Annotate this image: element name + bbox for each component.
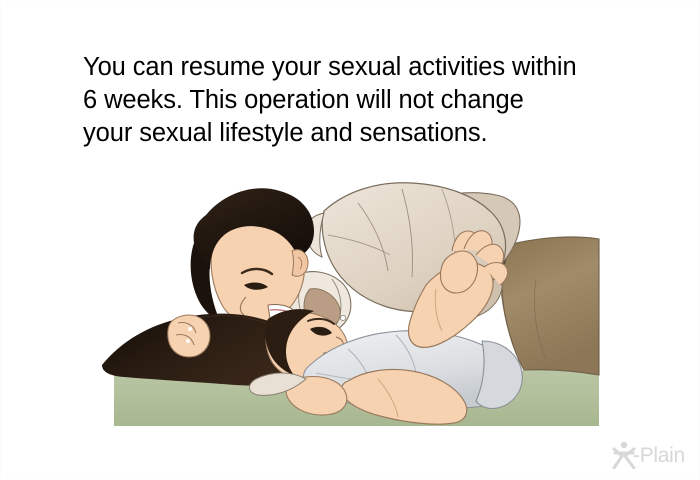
caption-text: You can resume your sexual activities wi… xyxy=(83,51,643,150)
woman-hand-left xyxy=(168,315,210,357)
couple-embracing-on-bed-illustration xyxy=(96,169,611,431)
shirt-button xyxy=(340,315,345,320)
caption-line-3: your sexual lifestyle and sensations. xyxy=(83,117,643,150)
caption-line-1: You can resume your sexual activities wi… xyxy=(83,51,643,84)
caption-line-2: 6 weeks. This operation will not change xyxy=(83,84,643,117)
page-root: You can resume your sexual activities wi… xyxy=(0,0,700,480)
brand-logo: -Plain xyxy=(611,441,691,471)
brand-logo-text: -Plain xyxy=(633,444,685,468)
